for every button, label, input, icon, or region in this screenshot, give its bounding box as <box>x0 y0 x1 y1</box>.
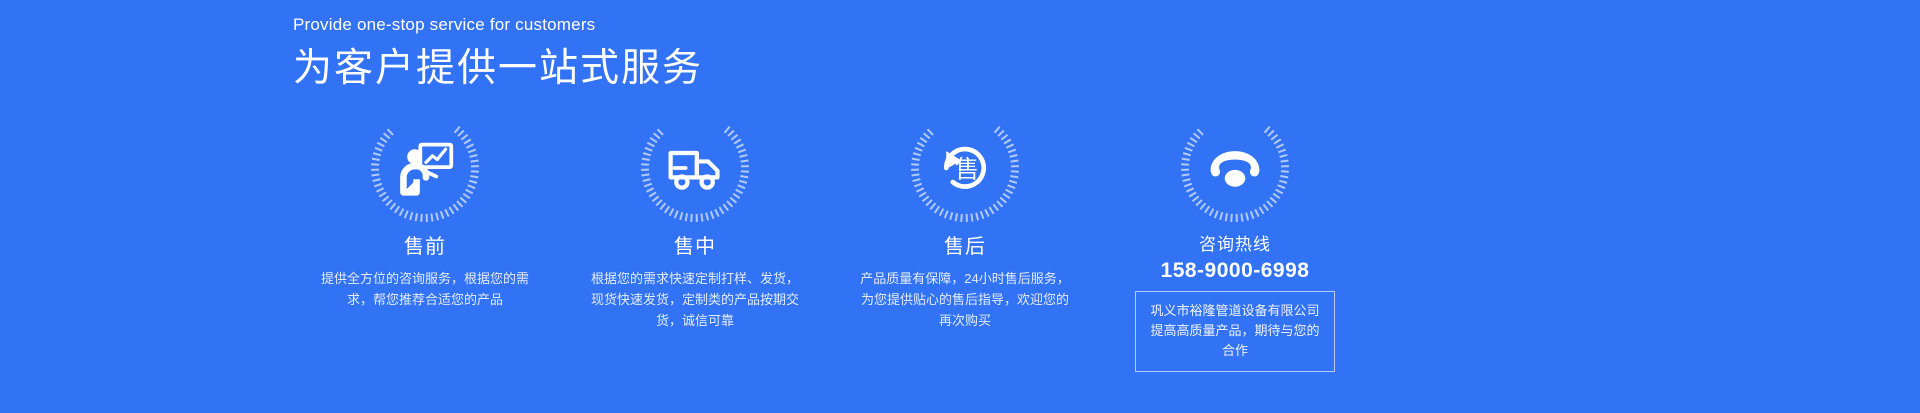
delivery-truck-icon <box>665 138 725 198</box>
presale-icon-wrap <box>369 112 481 224</box>
banner-title: 为客户提供一站式服务 <box>293 44 1193 94</box>
hotline-number[interactable]: 158-9000-6998 <box>1161 258 1310 284</box>
presale-title: 售前 <box>404 233 446 261</box>
service-card-insale[interactable]: 售中 根据您的需求快速定制打样、发货，现货快速发货，定制类的产品按期交货，诚信可… <box>560 112 830 331</box>
insale-title: 售中 <box>674 233 716 261</box>
service-card-row: 售前 提供全方位的咨询服务，根据您的需求，帮您推荐合适您的产品 <box>290 112 1640 372</box>
presenter-chart-icon <box>395 138 455 198</box>
aftersale-title: 售后 <box>944 233 986 261</box>
presale-desc: 提供全方位的咨询服务，根据您的需求，帮您推荐合适您的产品 <box>315 268 535 310</box>
service-card-aftersale[interactable]: 售 售后 产品质量有保障，24小时售后服务，为您提供贴心的售后指导，欢迎您的再次… <box>830 112 1100 331</box>
service-card-presale[interactable]: 售前 提供全方位的咨询服务，根据您的需求，帮您推荐合适您的产品 <box>290 112 560 310</box>
telephone-icon <box>1205 138 1265 198</box>
hotline-note-box: 巩义市裕隆管道设备有限公司提高高质量产品，期待与您的合作 <box>1135 291 1335 372</box>
aftersale-desc: 产品质量有保障，24小时售后服务，为您提供贴心的售后指导，欢迎您的再次购买 <box>855 268 1075 331</box>
insale-icon-wrap <box>639 112 751 224</box>
hotline-title: 咨询热线 <box>1199 233 1271 257</box>
svg-text:售: 售 <box>955 154 979 183</box>
aftersale-icon-wrap: 售 <box>909 112 1021 224</box>
banner-eyebrow: Provide one-stop service for customers <box>293 14 1193 36</box>
after-sales-arrow-icon: 售 <box>935 138 995 198</box>
service-banner: Provide one-stop service for customers 为… <box>0 0 1920 413</box>
hotline-icon-wrap <box>1179 112 1291 224</box>
service-card-hotline[interactable]: 咨询热线 158-9000-6998 巩义市裕隆管道设备有限公司提高高质量产品，… <box>1100 112 1370 372</box>
insale-desc: 根据您的需求快速定制打样、发货，现货快速发货，定制类的产品按期交货，诚信可靠 <box>585 268 805 331</box>
banner-heading: Provide one-stop service for customers 为… <box>293 14 1193 94</box>
